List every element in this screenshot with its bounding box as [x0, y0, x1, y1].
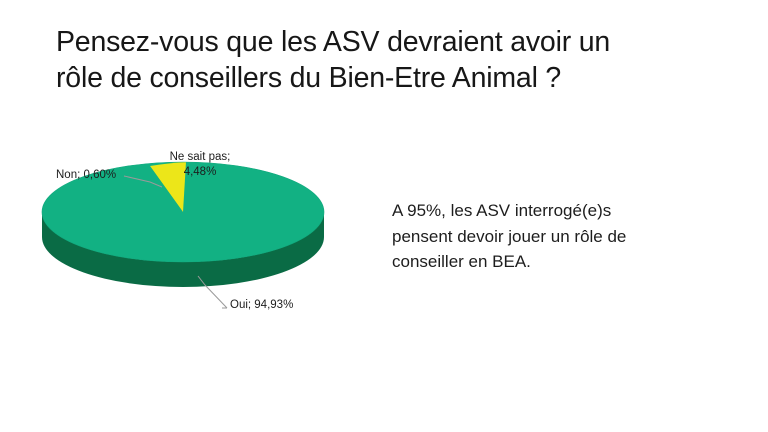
pie-chart: Ne sait pas; 4,48% Non; 0,60% Oui; 94,93…: [0, 130, 380, 340]
summary-text: A 95%, les ASV interrogé(e)s pensent dev…: [392, 198, 702, 275]
pie-label-oui: Oui; 94,93%: [230, 298, 293, 313]
pie-label-ne-sait-pas: Ne sait pas; 4,48%: [166, 150, 234, 179]
presentation-slide: Pensez-vous que les ASV devraient avoir …: [0, 0, 768, 432]
slide-title: Pensez-vous que les ASV devraient avoir …: [56, 24, 716, 96]
pie-label-non: Non; 0,60%: [56, 168, 116, 183]
